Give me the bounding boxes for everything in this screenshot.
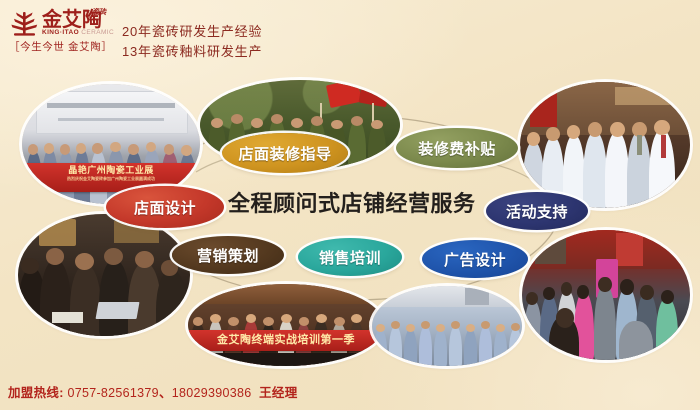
photo-dealer-visit [520,82,690,208]
photo-seminar-banner: 金艾陶终端实战培训第一季 [188,330,384,351]
brand-logo[interactable]: 金艾陶 瓷砖 KING·ITAO CERAMIC ［今生今世 金艾陶］ [8,8,116,56]
service-pill-marketing[interactable]: 营销策划 [172,236,284,274]
service-pill-sales-training[interactable]: 销售培训 [298,238,402,276]
hotline-contact: 王经理 [259,386,297,400]
service-pill-decor-guide[interactable]: 店面装修指导 [222,133,348,173]
service-pill-event-support[interactable]: 活动支持 [486,192,588,230]
service-pill-label: 广告设计 [444,249,506,270]
photo-registration-desk [18,214,190,336]
service-pill-ad-design[interactable]: 广告设计 [422,240,528,278]
brand-tagline: ［今生今世 金艾陶］ [9,39,112,54]
brand-name-pinyin: KING·ITAO CERAMIC [42,29,114,36]
claim-line-2: 13年瓷砖釉料研发生产 [122,41,262,60]
poster-canvas: 金艾陶 瓷砖 KING·ITAO CERAMIC ［今生今世 金艾陶］ 20年瓷… [0,0,700,410]
hotline-footer: 加盟热线: 0757-82561379、18029390386 王经理 [8,382,298,401]
hotline-label: 加盟热线: [8,386,64,400]
photo-staff-group [372,286,522,366]
service-pill-label: 活动支持 [506,201,568,222]
photo-training-seminar: 金艾陶终端实战培训第一季 [188,284,384,366]
page-title: 全程顾问式店铺经营服务 [228,190,478,220]
hotline-phone-1[interactable]: 0757-82561379 [67,386,159,400]
crown-tree-icon [8,10,42,36]
brand-name-category: 瓷砖 [93,9,107,17]
photo-store-opening-crowd [522,230,690,360]
header: 金艾陶 瓷砖 KING·ITAO CERAMIC ［今生今世 金艾陶］ 20年瓷… [0,0,700,60]
service-pill-label: 店面装修指导 [238,143,331,164]
service-pill-label: 装修费补贴 [418,138,496,159]
hotline-separator: 、 [159,386,172,400]
hotline-phone-2[interactable]: 18029390386 [172,386,252,400]
claim-line-1: 20年瓷砖研发生产经验 [122,21,262,40]
service-pill-shop-design[interactable]: 店面设计 [106,186,224,228]
service-pill-label: 店面设计 [134,197,196,218]
service-pill-label: 销售培训 [319,247,381,268]
service-pill-decor-subsidy[interactable]: 装修费补贴 [396,128,518,168]
service-pill-label: 营销策划 [197,245,259,266]
